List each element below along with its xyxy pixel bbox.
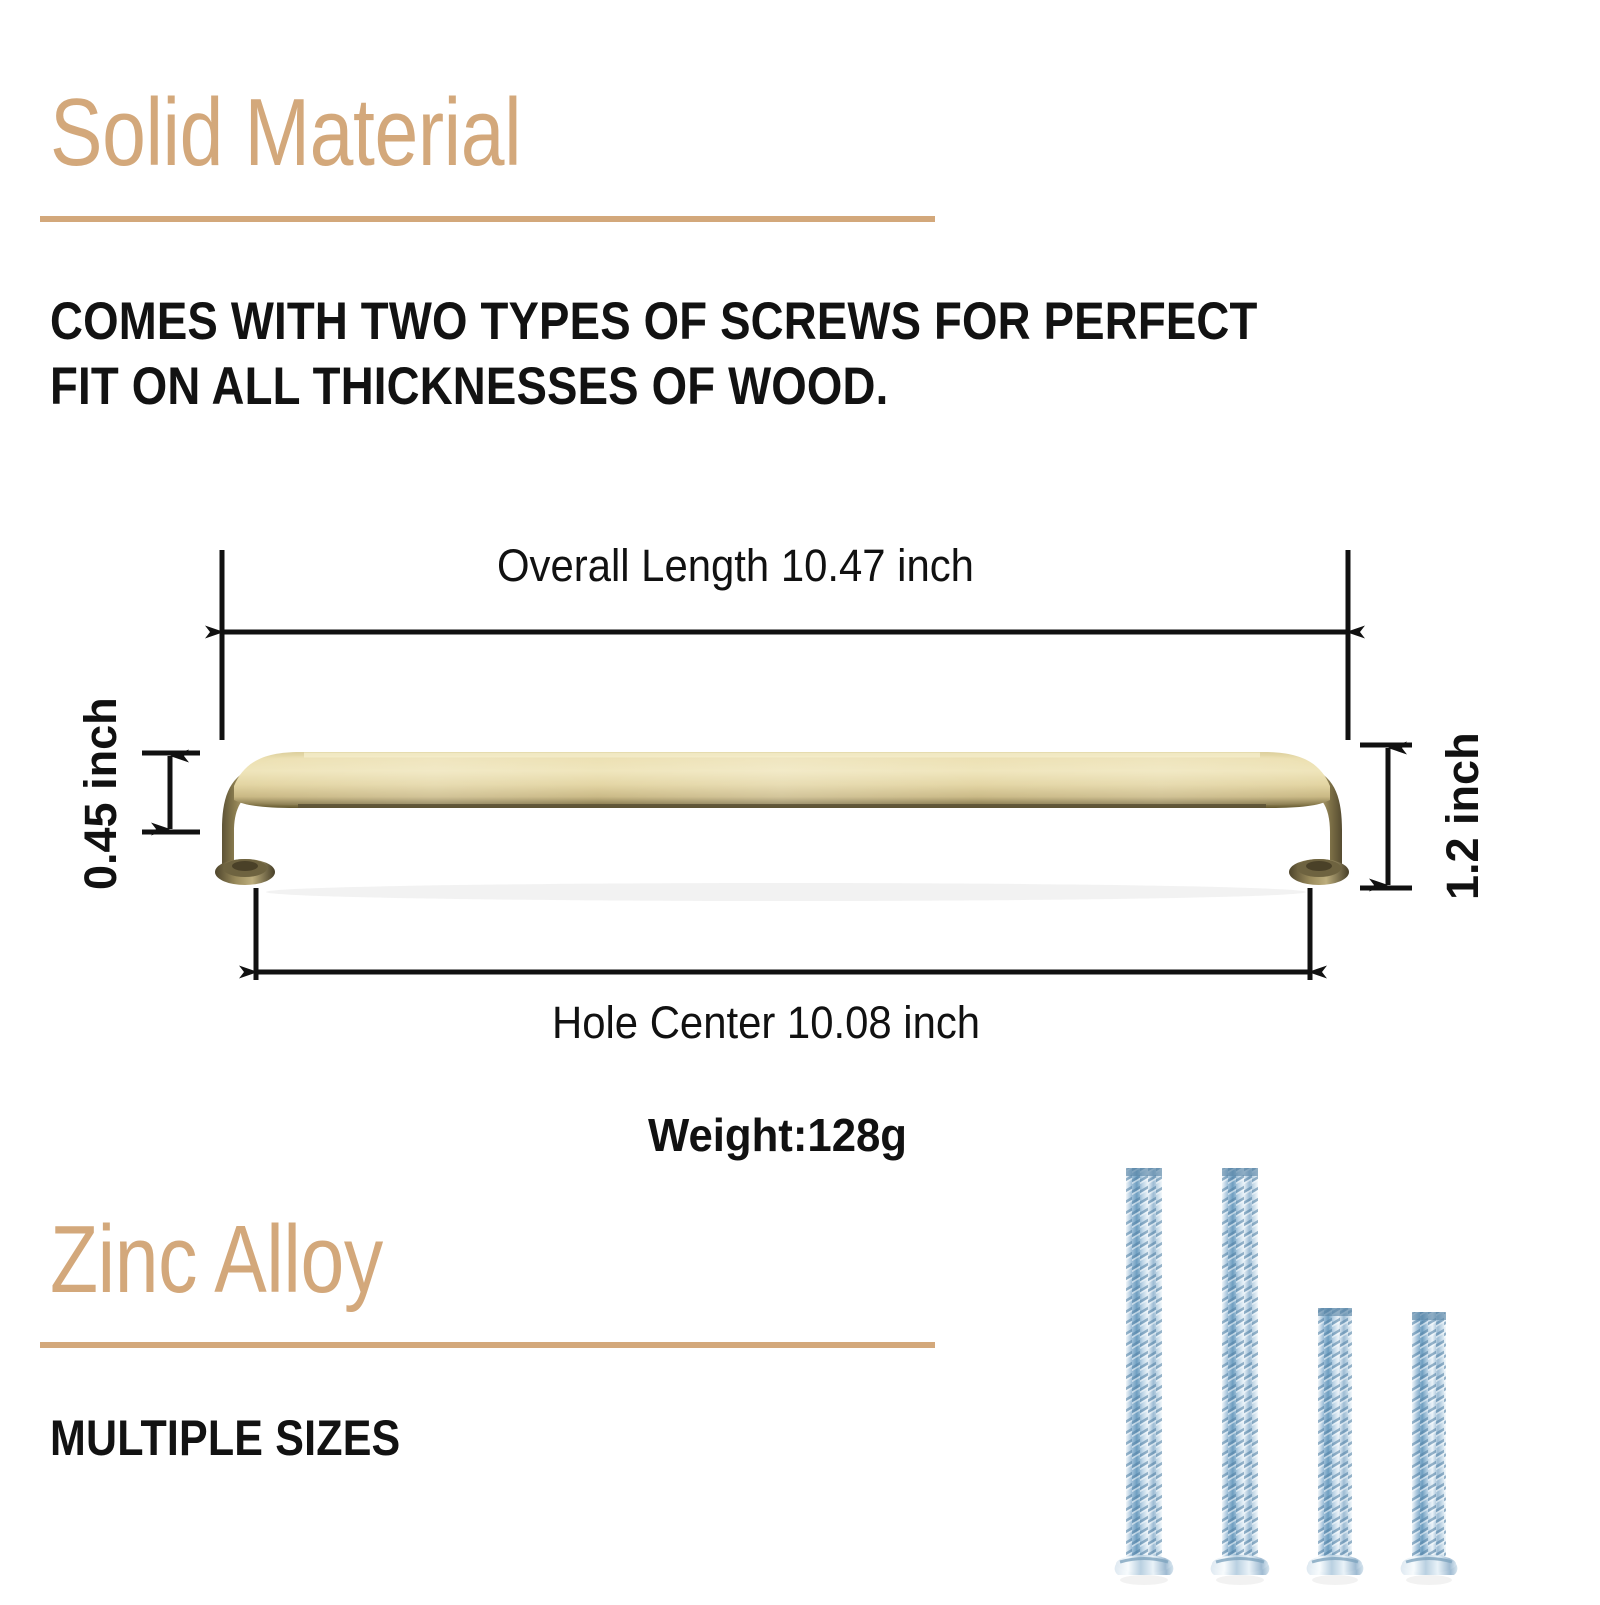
body-copy-screws-line1: COMES WITH TWO TYPES OF SCREWS FOR PERFE… bbox=[50, 292, 1258, 351]
body-copy-screws-line2: FIT ON ALL THICKNESSES OF WOOD. bbox=[50, 357, 888, 416]
screw-long-2 bbox=[1211, 1168, 1270, 1585]
screws-illustration bbox=[1100, 1140, 1500, 1600]
screw-short-2 bbox=[1401, 1312, 1458, 1585]
dimension-projection bbox=[1360, 745, 1412, 888]
dimension-label-hole-center: Hole Center 10.08 inch bbox=[552, 1000, 980, 1045]
screw-short-1 bbox=[1307, 1308, 1364, 1585]
divider-rule-top bbox=[40, 216, 935, 222]
screws-svg bbox=[1100, 1140, 1500, 1600]
section-heading-zinc-alloy: Zinc Alloy bbox=[50, 1212, 383, 1308]
infographic-page: Solid Material COMES WITH TWO TYPES OF S… bbox=[0, 0, 1600, 1600]
dimension-hole-center bbox=[256, 888, 1310, 980]
dimension-bar-thickness bbox=[142, 753, 200, 832]
dimension-label-bar-thickness: 0.45 inch bbox=[78, 697, 123, 890]
body-copy-multiple-sizes: MULTIPLE SIZES bbox=[50, 1408, 400, 1469]
divider-rule-bottom bbox=[40, 1342, 935, 1348]
section-heading-solid-material: Solid Material bbox=[50, 85, 521, 181]
dimension-label-projection: 1.2 inch bbox=[1440, 732, 1485, 900]
body-copy-screws: COMES WITH TWO TYPES OF SCREWS FOR PERFE… bbox=[50, 290, 1258, 419]
weight-label: Weight:128g bbox=[648, 1108, 907, 1162]
dimension-label-overall-length: Overall Length 10.47 inch bbox=[497, 543, 974, 588]
handle-illustration bbox=[215, 752, 1349, 901]
screw-long-1 bbox=[1115, 1168, 1174, 1585]
